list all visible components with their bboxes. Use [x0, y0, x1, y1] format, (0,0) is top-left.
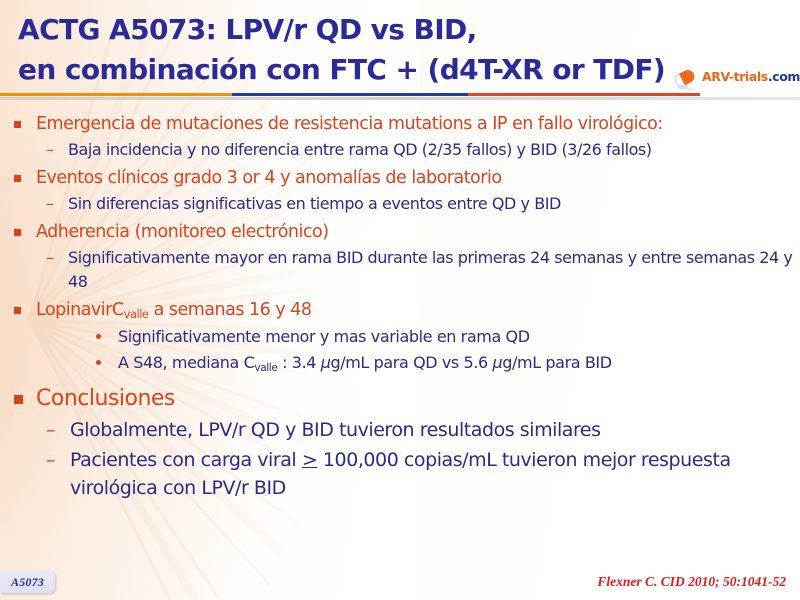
bullet-text: A S48, mediana Cvalle : 3.4 μg/mL para Q… [118, 351, 800, 375]
bullet-item-level1: Conclusiones [0, 384, 800, 414]
bullet-text: Globalmente, LPV/r QD y BID tuvieron res… [70, 416, 800, 444]
title-line-2: en combinación con FTC + (d4T-XR or TDF) [18, 50, 718, 90]
bullet-item-level1: Emergencia de mutaciones de resistencia … [0, 112, 800, 137]
square-bullet-icon [14, 298, 36, 314]
square-bullet-glyph [14, 395, 23, 404]
arv-trials-logo[interactable]: ARV-trials.com [672, 66, 796, 94]
bullet-item-level2: –Sin diferencias significativas en tiemp… [0, 192, 800, 216]
bullet-item-level1: LopinavirCvalle a semanas 16 y 48 [0, 298, 800, 323]
bullet-item-level2: –Pacientes con carga viral > 100,000 cop… [0, 446, 800, 502]
bullet-text: LopinavirCvalle a semanas 16 y 48 [36, 298, 800, 323]
logo-text-primary: ARV-trials [702, 69, 768, 84]
dash-bullet-icon: – [46, 446, 70, 474]
dash-bullet-icon: – [46, 416, 70, 444]
dot-bullet-glyph [96, 334, 101, 339]
square-bullet-icon [14, 384, 36, 404]
square-bullet-glyph [14, 175, 21, 182]
dot-bullet-glyph [96, 360, 101, 365]
study-id-badge: A5073 [0, 571, 55, 593]
square-bullet-icon [14, 112, 36, 128]
dot-bullet-icon [96, 351, 118, 365]
square-bullet-glyph [14, 307, 21, 314]
bullet-text: Pacientes con carga viral > 100,000 copi… [70, 446, 800, 502]
bullet-item-level1: Eventos clínicos grado 3 or 4 y anomalía… [0, 166, 800, 191]
divider-segment-red [468, 93, 700, 96]
bullet-item-level1: Adherencia (monitoreo electrónico) [0, 220, 800, 245]
page-title: ACTG A5073: LPV/r QD vs BID, en combinac… [18, 10, 718, 90]
square-bullet-icon [14, 166, 36, 182]
bullet-item-level2: –Globalmente, LPV/r QD y BID tuvieron re… [0, 416, 800, 444]
dash-bullet-icon: – [46, 246, 68, 270]
bullet-text: Sin diferencias significativas en tiempo… [68, 192, 800, 216]
bullet-text: Adherencia (monitoreo electrónico) [36, 220, 800, 245]
square-bullet-glyph [14, 229, 21, 236]
reference-citation: Flexner C. CID 2010; 50:1041-52 [597, 574, 786, 590]
divider-segment-orange [0, 93, 232, 96]
bullet-text: Significativamente menor y mas variable … [118, 325, 800, 349]
header-divider-shadow [0, 97, 800, 100]
divider-segment-blue [232, 93, 468, 96]
study-id-label: A5073 [11, 575, 44, 590]
logo-wordmark: ARV-trials.com [702, 69, 800, 84]
bullet-text: Baja incidencia y no diferencia entre ra… [68, 138, 800, 162]
logo-text-suffix: .com [768, 69, 800, 84]
pill-capsule-icon [672, 66, 704, 92]
bullet-item-level2: –Significativamente mayor en rama BID du… [0, 246, 800, 294]
title-line-1: ACTG A5073: LPV/r QD vs BID, [18, 10, 718, 50]
dot-bullet-icon [96, 325, 118, 339]
bullet-item-level2: –Baja incidencia y no diferencia entre r… [0, 138, 800, 162]
bullet-text: Conclusiones [36, 384, 800, 414]
bullet-text: Emergencia de mutaciones de resistencia … [36, 112, 800, 137]
bullet-item-level3: Significativamente menor y mas variable … [0, 325, 800, 349]
square-bullet-icon [14, 220, 36, 236]
slide: ACTG A5073: LPV/r QD vs BID, en combinac… [0, 0, 800, 600]
dash-bullet-icon: – [46, 138, 68, 162]
dash-bullet-icon: – [46, 192, 68, 216]
square-bullet-glyph [14, 121, 21, 128]
bullet-list: Emergencia de mutaciones de resistencia … [0, 108, 800, 502]
bullet-item-level3: A S48, mediana Cvalle : 3.4 μg/mL para Q… [0, 351, 800, 375]
bullet-text: Eventos clínicos grado 3 or 4 y anomalía… [36, 166, 800, 191]
bullet-text: Significativamente mayor en rama BID dur… [68, 246, 800, 294]
